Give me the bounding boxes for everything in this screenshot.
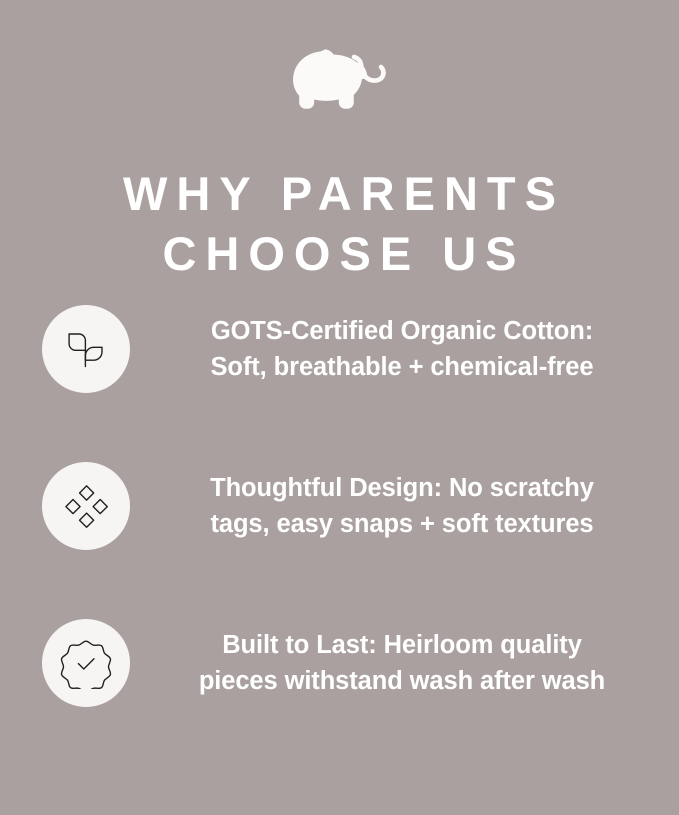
four-diamonds-icon xyxy=(63,483,109,529)
why-parents-choose-us-panel: WHY PARENTS CHOOSE US GOTS-Certifie xyxy=(0,0,679,815)
feature-text: Built to Last: Heirloom quality pieces w… xyxy=(148,627,656,699)
brand-logo xyxy=(0,36,679,116)
feature-list: GOTS-Certified Organic Cotton: Soft, bre… xyxy=(0,293,679,764)
feature-text-line-2: pieces withstand wash after wash xyxy=(148,663,656,699)
feature-text-line-1: Built to Last: Heirloom quality xyxy=(148,627,656,663)
feature-icon-badge xyxy=(42,462,130,550)
feature-text-line-2: tags, easy snaps + soft textures xyxy=(148,506,656,542)
page-title: WHY PARENTS CHOOSE US xyxy=(0,164,679,284)
feature-item-built-to-last: Built to Last: Heirloom quality pieces w… xyxy=(0,607,679,764)
page-title-line-1: WHY PARENTS xyxy=(0,164,679,224)
badge-check-icon xyxy=(60,637,112,689)
feature-text: Thoughtful Design: No scratchy tags, eas… xyxy=(148,470,656,542)
feature-item-organic-cotton: GOTS-Certified Organic Cotton: Soft, bre… xyxy=(0,293,679,450)
feature-icon-badge xyxy=(42,305,130,393)
feature-text-line-2: Soft, breathable + chemical-free xyxy=(148,349,656,385)
page-title-line-2: CHOOSE US xyxy=(0,224,679,284)
feature-icon-badge xyxy=(42,619,130,707)
elephant-icon xyxy=(288,42,392,110)
feature-item-thoughtful-design: Thoughtful Design: No scratchy tags, eas… xyxy=(0,450,679,607)
feature-text-line-1: GOTS-Certified Organic Cotton: xyxy=(148,313,656,349)
feature-text: GOTS-Certified Organic Cotton: Soft, bre… xyxy=(148,313,656,385)
sprout-leaf-icon xyxy=(63,326,109,372)
feature-text-line-1: Thoughtful Design: No scratchy xyxy=(148,470,656,506)
